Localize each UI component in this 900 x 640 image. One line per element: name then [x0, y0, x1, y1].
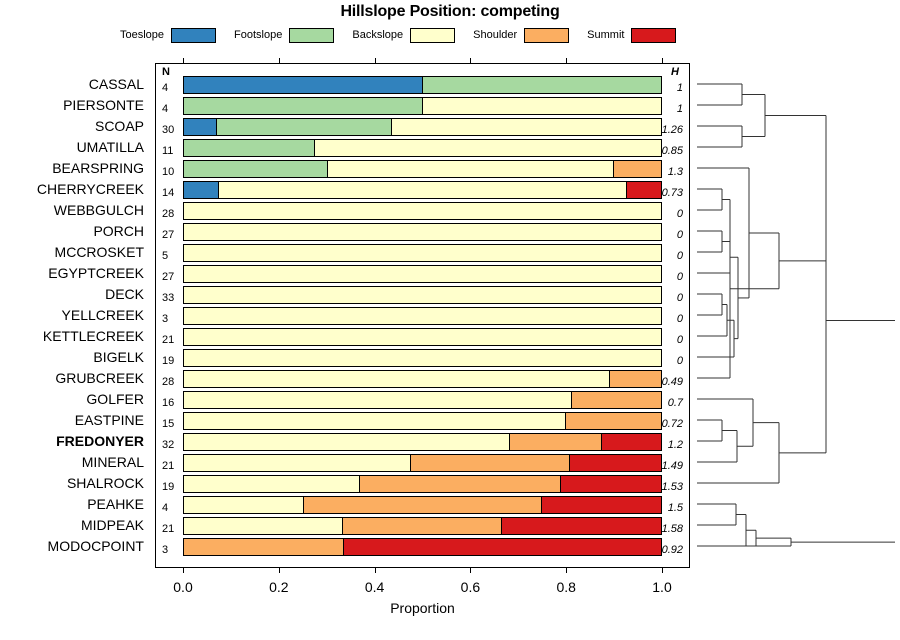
h-value: 1.26: [662, 124, 683, 136]
n-value: 3: [162, 544, 168, 556]
h-value: 0: [677, 292, 683, 304]
x-tick-bottom: [375, 567, 376, 573]
y-axis-label-golfer: GOLFER: [86, 391, 144, 407]
h-value: 0.92: [662, 544, 683, 556]
h-value: 0.85: [662, 145, 683, 157]
x-tick-top: [183, 58, 184, 64]
bar-segment-backslope[interactable]: [184, 266, 661, 282]
n-value: 10: [162, 166, 174, 178]
bar-segment-backslope[interactable]: [328, 161, 614, 177]
y-axis-label-eastpine: EASTPINE: [75, 412, 144, 428]
stacked-bar[interactable]: [183, 517, 662, 535]
bar-segment-footslope[interactable]: [184, 161, 328, 177]
x-tick-top: [566, 58, 567, 64]
stacked-bar[interactable]: [183, 265, 662, 283]
x-tick-bottom: [183, 567, 184, 573]
n-value: 19: [162, 481, 174, 493]
legend-swatch-shoulder: [524, 28, 569, 43]
x-tick-bottom: [470, 567, 471, 573]
x-axis-title: Proportion: [155, 600, 690, 616]
bar-segment-shoulder[interactable]: [566, 413, 661, 429]
n-value: 11: [162, 145, 173, 157]
n-value: 32: [162, 439, 174, 451]
x-tick-top: [470, 58, 471, 64]
bar-segment-backslope[interactable]: [184, 287, 661, 303]
bar-segment-backslope[interactable]: [184, 203, 661, 219]
n-value: 4: [162, 82, 168, 94]
legend: ToeslopeFootslopeBackslopeShoulderSummit: [120, 25, 720, 45]
y-axis-label-bearspring: BEARSPRING: [52, 160, 144, 176]
y-axis-label-piersonte: PIERSONTE: [63, 97, 144, 113]
bar-segment-backslope[interactable]: [184, 434, 510, 450]
y-axis-label-shalrock: SHALROCK: [67, 475, 144, 491]
x-tick-label: 0.6: [461, 579, 480, 595]
n-value: 27: [162, 229, 174, 241]
legend-entry-shoulder: Shoulder: [473, 28, 569, 43]
y-axis-label-scoap: SCOAP: [95, 118, 144, 134]
x-tick-label: 1.0: [652, 579, 671, 595]
h-value: 0: [677, 250, 683, 262]
legend-label: Backslope: [352, 29, 403, 41]
h-value: 1.58: [662, 523, 683, 535]
h-value: 1: [677, 103, 683, 115]
y-axis-label-egyptcreek: EGYPTCREEK: [48, 265, 144, 281]
plot-panel: N H 4141301.26110.85101.3140.73280270502…: [155, 63, 690, 568]
bar-segment-shoulder[interactable]: [343, 518, 502, 534]
n-value: 30: [162, 124, 174, 136]
bar-segment-shoulder[interactable]: [614, 161, 662, 177]
bar-segment-footslope[interactable]: [184, 98, 423, 114]
y-axis-label-midpeak: MIDPEAK: [81, 517, 144, 533]
h-value: 1: [677, 82, 683, 94]
stacked-bar[interactable]: [183, 433, 662, 451]
bar-segment-backslope[interactable]: [184, 224, 661, 240]
stacked-bar[interactable]: [183, 76, 662, 94]
page-title: Hillslope Position: competing: [0, 3, 900, 21]
y-axis-labels: CASSALPIERSONTESCOAPUMATILLABEARSPRINGCH…: [0, 63, 150, 568]
stacked-bar[interactable]: [183, 328, 662, 346]
y-axis-label-mineral: MINERAL: [82, 454, 144, 470]
y-axis-label-yellcreek: YELLCREEK: [62, 307, 144, 323]
stacked-bar[interactable]: [183, 160, 662, 178]
n-value: 27: [162, 271, 174, 283]
legend-label: Summit: [587, 29, 624, 41]
n-column-header: N: [162, 66, 170, 78]
bar-segment-backslope[interactable]: [184, 497, 304, 513]
n-value: 28: [162, 376, 174, 388]
x-tick-bottom: [566, 567, 567, 573]
bar-segment-summit[interactable]: [570, 455, 661, 471]
legend-swatch-backslope: [410, 28, 455, 43]
stacked-bar[interactable]: [183, 412, 662, 430]
bar-segment-backslope[interactable]: [184, 392, 572, 408]
legend-entry-summit: Summit: [587, 28, 676, 43]
y-axis-label-peahke: PEAHKE: [87, 496, 144, 512]
h-value: 0: [677, 355, 683, 367]
h-value: 0.72: [662, 418, 683, 430]
h-value: 0.49: [662, 376, 683, 388]
stacked-bar[interactable]: [183, 391, 662, 409]
y-axis-label-porch: PORCH: [93, 223, 144, 239]
bar-segment-summit[interactable]: [502, 518, 661, 534]
bar-segment-backslope[interactable]: [423, 98, 661, 114]
legend-label: Footslope: [234, 29, 282, 41]
legend-label: Shoulder: [473, 29, 517, 41]
x-tick-bottom: [662, 567, 663, 573]
chart-root: Hillslope Position: competing ToeslopeFo…: [0, 0, 900, 640]
bar-segment-toeslope[interactable]: [184, 119, 217, 135]
bar-segment-backslope[interactable]: [184, 455, 411, 471]
stacked-bar[interactable]: [183, 454, 662, 472]
stacked-bar[interactable]: [183, 139, 662, 157]
y-axis-label-deck: DECK: [105, 286, 144, 302]
n-value: 33: [162, 292, 174, 304]
stacked-bar[interactable]: [183, 475, 662, 493]
bar-segment-toeslope[interactable]: [184, 182, 219, 198]
bar-segment-backslope[interactable]: [184, 413, 566, 429]
bar-segment-backslope[interactable]: [184, 308, 661, 324]
h-value: 0: [677, 313, 683, 325]
n-value: 19: [162, 355, 174, 367]
y-axis-label-webbgulch: WEBBGULCH: [54, 202, 144, 218]
y-axis-label-mccrosket: MCCROSKET: [55, 244, 144, 260]
bar-segment-summit[interactable]: [627, 182, 661, 198]
n-value: 4: [162, 502, 168, 514]
bar-segment-toeslope[interactable]: [184, 77, 423, 93]
y-axis-label-bigelk: BIGELK: [93, 349, 144, 365]
stacked-bar[interactable]: [183, 118, 662, 136]
stacked-bar[interactable]: [183, 307, 662, 325]
y-axis-label-kettlecreek: KETTLECREEK: [43, 328, 144, 344]
n-value: 5: [162, 250, 168, 262]
legend-entry-toeslope: Toeslope: [120, 28, 216, 43]
y-axis-label-fredonyer: FREDONYER: [56, 433, 144, 449]
bar-segment-shoulder[interactable]: [360, 476, 561, 492]
bar-segment-backslope[interactable]: [184, 371, 610, 387]
bar-segment-summit[interactable]: [344, 539, 661, 555]
bar-segment-backslope[interactable]: [392, 119, 661, 135]
bar-segment-shoulder[interactable]: [184, 539, 344, 555]
h-value: 1.5: [668, 502, 683, 514]
h-value: 1.3: [668, 166, 683, 178]
h-value: 0.73: [662, 187, 683, 199]
stacked-bar[interactable]: [183, 538, 662, 556]
stacked-bar[interactable]: [183, 181, 662, 199]
y-axis-label-cassal: CASSAL: [89, 76, 144, 92]
stacked-bar[interactable]: [183, 202, 662, 220]
bar-segment-summit[interactable]: [542, 497, 661, 513]
bar-segment-summit[interactable]: [602, 434, 661, 450]
x-tick-label: 0.8: [556, 579, 575, 595]
stacked-bar[interactable]: [183, 349, 662, 367]
bar-segment-shoulder[interactable]: [510, 434, 601, 450]
h-value: 0: [677, 271, 683, 283]
stacked-bar[interactable]: [183, 496, 662, 514]
y-axis-label-cherrycreek: CHERRYCREEK: [37, 181, 144, 197]
n-value: 4: [162, 103, 168, 115]
bar-segment-shoulder[interactable]: [572, 392, 661, 408]
n-value: 15: [162, 418, 174, 430]
h-value: 0: [677, 208, 683, 220]
h-column-header: H: [671, 66, 679, 78]
bar-segment-shoulder[interactable]: [304, 497, 543, 513]
x-tick-label: 0.4: [365, 579, 384, 595]
bar-segment-backslope[interactable]: [184, 476, 360, 492]
h-value: 1.49: [662, 460, 683, 472]
bar-segment-footslope[interactable]: [423, 77, 661, 93]
dendrogram: [690, 63, 895, 568]
n-value: 21: [162, 460, 174, 472]
bar-segment-footslope[interactable]: [184, 140, 315, 156]
x-tick-label: 0.0: [173, 579, 192, 595]
stacked-bar[interactable]: [183, 286, 662, 304]
x-tick-top: [662, 58, 663, 64]
bar-segment-shoulder[interactable]: [411, 455, 570, 471]
h-value: 1.2: [668, 439, 683, 451]
n-value: 28: [162, 208, 174, 220]
legend-label: Toeslope: [120, 29, 164, 41]
n-value: 16: [162, 397, 174, 409]
n-value: 3: [162, 313, 168, 325]
x-tick-bottom: [279, 567, 280, 573]
bar-segment-backslope[interactable]: [184, 350, 661, 366]
bar-segment-backslope[interactable]: [315, 140, 661, 156]
bar-segment-summit[interactable]: [561, 476, 661, 492]
legend-swatch-toeslope: [171, 28, 216, 43]
h-value: 0: [677, 229, 683, 241]
bar-segment-backslope[interactable]: [184, 518, 343, 534]
stacked-bar[interactable]: [183, 97, 662, 115]
stacked-bar[interactable]: [183, 223, 662, 241]
y-axis-label-umatilla: UMATILLA: [77, 139, 144, 155]
n-value: 14: [162, 187, 174, 199]
y-axis-label-modocpoint: MODOCPOINT: [48, 538, 144, 554]
x-tick-top: [279, 58, 280, 64]
legend-entry-footslope: Footslope: [234, 28, 334, 43]
x-tick-top: [375, 58, 376, 64]
y-axis-label-grubcreek: GRUBCREEK: [55, 370, 144, 386]
legend-swatch-footslope: [289, 28, 334, 43]
h-value: 1.53: [662, 481, 683, 493]
legend-swatch-summit: [631, 28, 676, 43]
h-value: 0: [677, 334, 683, 346]
bar-segment-backslope[interactable]: [184, 245, 661, 261]
n-value: 21: [162, 523, 174, 535]
n-value: 21: [162, 334, 174, 346]
bar-segment-footslope[interactable]: [217, 119, 392, 135]
stacked-bar[interactable]: [183, 370, 662, 388]
bar-segment-backslope[interactable]: [219, 182, 627, 198]
legend-entry-backslope: Backslope: [352, 28, 455, 43]
stacked-bar[interactable]: [183, 244, 662, 262]
bar-segment-shoulder[interactable]: [610, 371, 661, 387]
h-value: 0.7: [668, 397, 683, 409]
bar-segment-backslope[interactable]: [184, 329, 661, 345]
x-tick-label: 0.2: [269, 579, 288, 595]
